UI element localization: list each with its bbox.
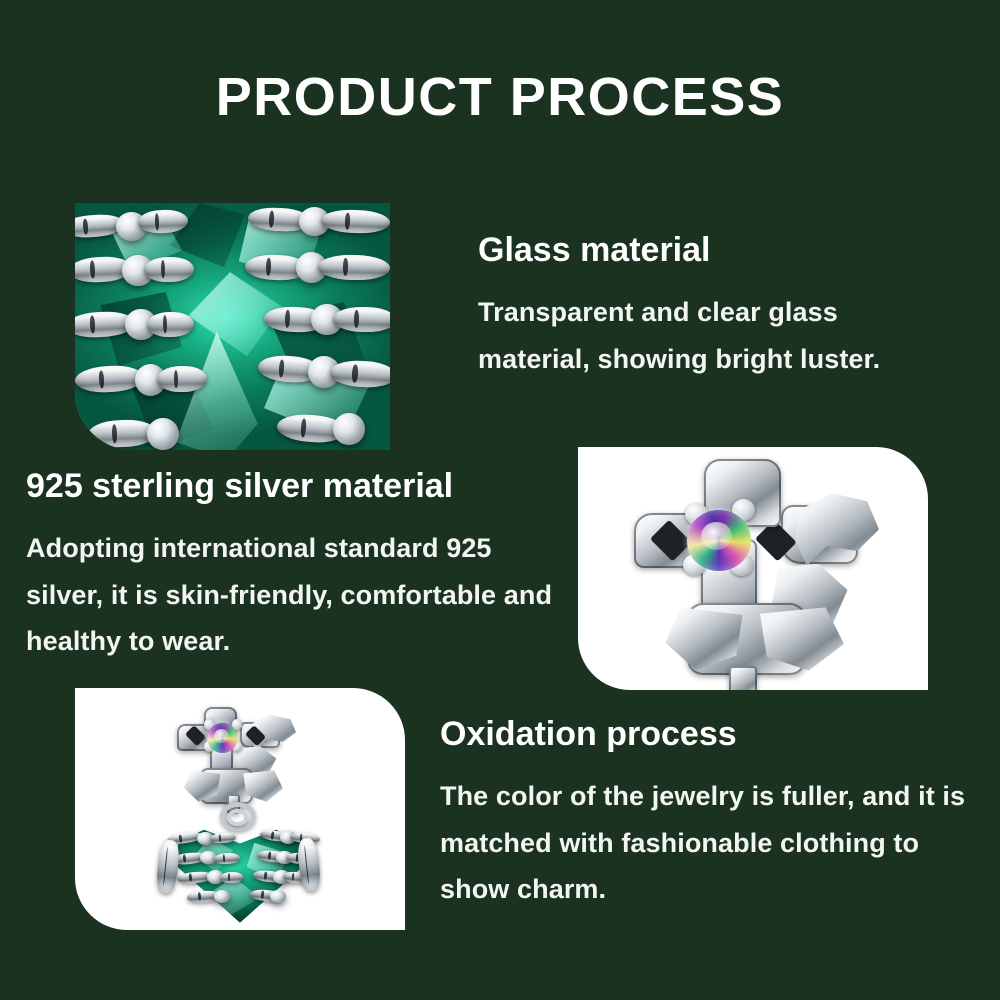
feature-heading-glass: Glass material [478, 232, 948, 269]
pendant-scene [75, 688, 405, 930]
product-photo-pendant[interactable] [75, 688, 405, 930]
bail-link [227, 809, 248, 826]
feature-block-oxidation: Oxidation process The color of the jewel… [440, 716, 980, 913]
product-process-poster: PRODUCT PROCESS [0, 0, 1000, 1000]
product-photo-macro[interactable] [75, 203, 390, 450]
feature-body-silver: Adopting international standard 925 silv… [26, 525, 574, 664]
cross-charm-scene [578, 447, 928, 690]
feature-block-glass: Glass material Transparent and clear gla… [478, 232, 948, 382]
macro-scene [75, 203, 390, 450]
feature-heading-oxidation: Oxidation process [440, 716, 980, 753]
feature-body-oxidation: The color of the jewelry is fuller, and … [440, 773, 980, 912]
feature-block-silver: 925 sterling silver material Adopting in… [26, 468, 574, 665]
feature-heading-silver: 925 sterling silver material [26, 468, 574, 505]
mystic-topaz-gem [687, 510, 752, 571]
product-photo-cross[interactable] [578, 447, 928, 690]
feature-body-glass: Transparent and clear glass material, sh… [478, 289, 948, 382]
page-title: PRODUCT PROCESS [0, 68, 1000, 127]
